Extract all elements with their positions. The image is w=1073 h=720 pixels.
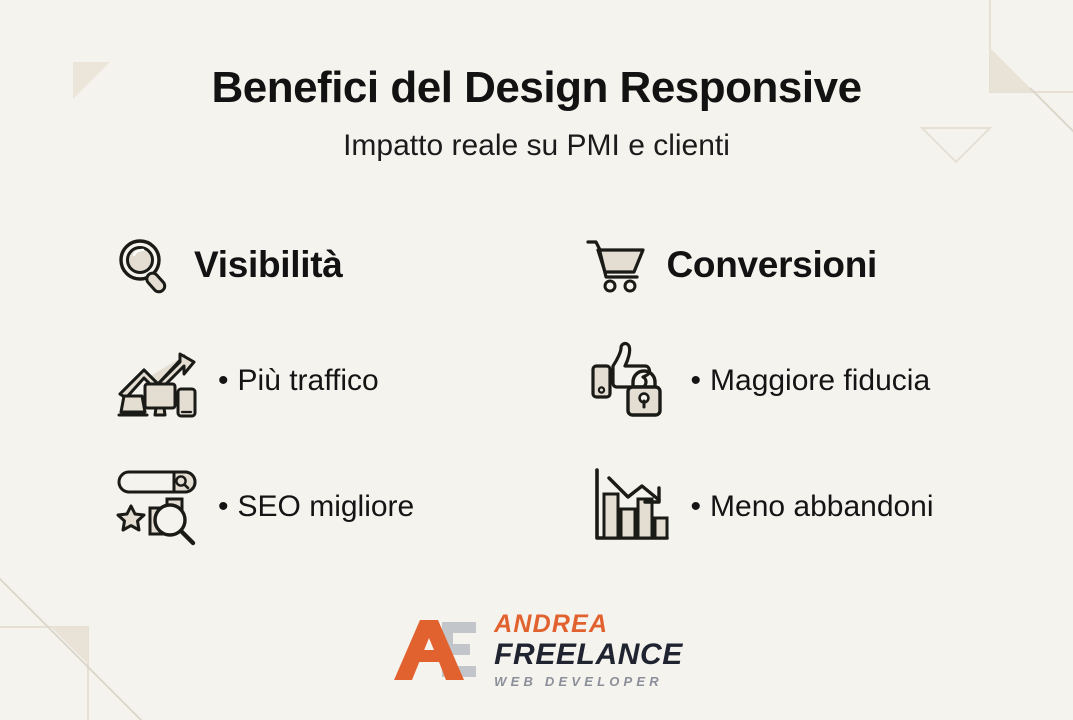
header: Benefici del Design Responsive Impatto r… [0, 62, 1073, 164]
page-subtitle: Impatto reale su PMI e clienti [0, 128, 1073, 164]
benefit-item-maggiore-fiducia: • Maggiore fiducia [585, 338, 1073, 424]
column-heading-conversioni: Conversioni [585, 232, 1073, 298]
declining-bar-chart-icon [585, 464, 681, 550]
traffic-growth-devices-icon [112, 338, 208, 424]
brand-name-second: FREELANCE [494, 640, 683, 670]
list-bullet: • [218, 492, 229, 522]
af-monogram-icon [390, 614, 486, 686]
benefit-label: Più traffico [238, 364, 379, 398]
brand-tagline: WEB DEVELOPER [494, 675, 683, 688]
brand-name-first: ANDREA [494, 612, 683, 637]
list-bullet: • [691, 366, 702, 396]
benefit-text-wrap: • Più traffico [218, 364, 379, 398]
column-heading-visibilita: Visibilità [112, 232, 537, 298]
benefit-text-wrap: • Meno abbandoni [691, 490, 934, 524]
footer: ANDREA FREELANCE WEB DEVELOPER [0, 612, 1073, 688]
column-visibilita: Visibilità • [0, 232, 537, 550]
infographic-canvas: Benefici del Design Responsive Impatto r… [0, 0, 1073, 720]
benefit-text-wrap: • Maggiore fiducia [691, 364, 931, 398]
seo-search-bar-icon [112, 464, 208, 550]
benefit-label: Maggiore fiducia [710, 364, 930, 398]
column-conversioni: Conversioni • Maggiore fi [537, 232, 1073, 550]
column-title: Conversioni [667, 244, 878, 286]
list-bullet: • [691, 492, 702, 522]
benefit-item-meno-abbandoni: • Meno abbandoni [585, 464, 1073, 550]
benefit-label: Meno abbandoni [710, 490, 934, 524]
page-title: Benefici del Design Responsive [0, 62, 1073, 114]
benefits-columns: Visibilità • [0, 232, 1073, 550]
benefit-label: SEO migliore [238, 490, 415, 524]
benefit-text-wrap: • SEO migliore [218, 490, 414, 524]
benefit-item-seo-migliore: • SEO migliore [112, 464, 537, 550]
brand-logo-text: ANDREA FREELANCE WEB DEVELOPER [494, 612, 683, 688]
brand-logo: ANDREA FREELANCE WEB DEVELOPER [390, 612, 683, 688]
list-bullet: • [218, 366, 229, 396]
column-title: Visibilità [194, 244, 343, 286]
thumbs-up-lock-icon [585, 338, 681, 424]
magnifying-glass-icon [112, 235, 176, 295]
shopping-cart-icon [585, 235, 649, 295]
benefit-item-piu-traffico: • Più traffico [112, 338, 537, 424]
